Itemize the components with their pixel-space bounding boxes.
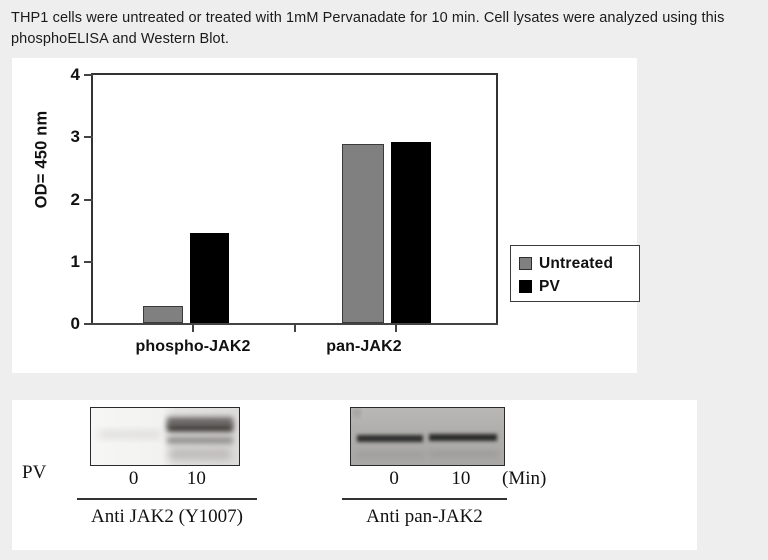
figure-caption: THP1 cells were untreated or treated wit… <box>11 8 759 50</box>
blot1-antibody-label: Anti JAK2 (Y1007) <box>67 506 267 528</box>
legend-item-pv: PV <box>519 275 639 298</box>
western-blot-panel: PV <box>12 400 697 550</box>
x-category-label-pan-jak2: pan-JAK2 <box>302 338 426 356</box>
blot2-antibody-label: Anti pan-JAK2 <box>342 506 507 528</box>
blot-row-label-pv: PV <box>22 462 46 484</box>
legend-label-untreated: Untreated <box>539 255 613 273</box>
y-tick-label-3: 3 <box>58 128 80 145</box>
blot1-underline <box>77 498 257 500</box>
blot2-underline <box>342 498 507 500</box>
x-tick-2 <box>294 323 296 332</box>
western-blot-image-pan-jak2 <box>350 407 505 466</box>
y-tick-label-0: 0 <box>58 315 80 332</box>
bar-phospho-jak2-untreated <box>143 306 183 323</box>
y-tick-label-4: 4 <box>58 66 80 83</box>
blot-image-svg-phospho-jak2 <box>91 408 240 466</box>
y-tick-0 <box>84 323 93 325</box>
bar-phospho-jak2-pv <box>190 233 229 323</box>
blot-image-svg-pan-jak2 <box>351 408 505 466</box>
y-axis-title: OD= 450 nm <box>33 75 52 245</box>
chart-legend: Untreated PV <box>510 245 640 302</box>
blot1-lane-label-0: 0 <box>105 468 163 490</box>
legend-item-untreated: Untreated <box>519 252 639 275</box>
y-tick-label-1: 1 <box>58 253 80 270</box>
legend-label-pv: PV <box>539 278 560 296</box>
y-tick-label-2: 2 <box>58 191 80 208</box>
bar-chart-panel: OD= 450 nm 0 1 2 3 4 phospho-JAK2 pan-JA… <box>12 58 637 373</box>
gray-square-icon <box>519 257 532 270</box>
black-square-icon <box>519 280 532 293</box>
x-category-label-phospho-jak2: phospho-JAK2 <box>118 338 268 356</box>
x-tick-1 <box>192 323 194 332</box>
bar-pan-jak2-untreated <box>342 144 384 323</box>
bar-pan-jak2-pv <box>391 142 431 323</box>
x-tick-3 <box>395 323 397 332</box>
blot2-lane-label-0: 0 <box>363 468 425 490</box>
blot1-lane-label-10: 10 <box>167 468 225 490</box>
blot-units-label: (Min) <box>502 468 546 490</box>
western-blot-image-phospho-jak2 <box>90 407 240 466</box>
blot2-lane-label-10: 10 <box>430 468 492 490</box>
plot-area <box>91 74 497 323</box>
